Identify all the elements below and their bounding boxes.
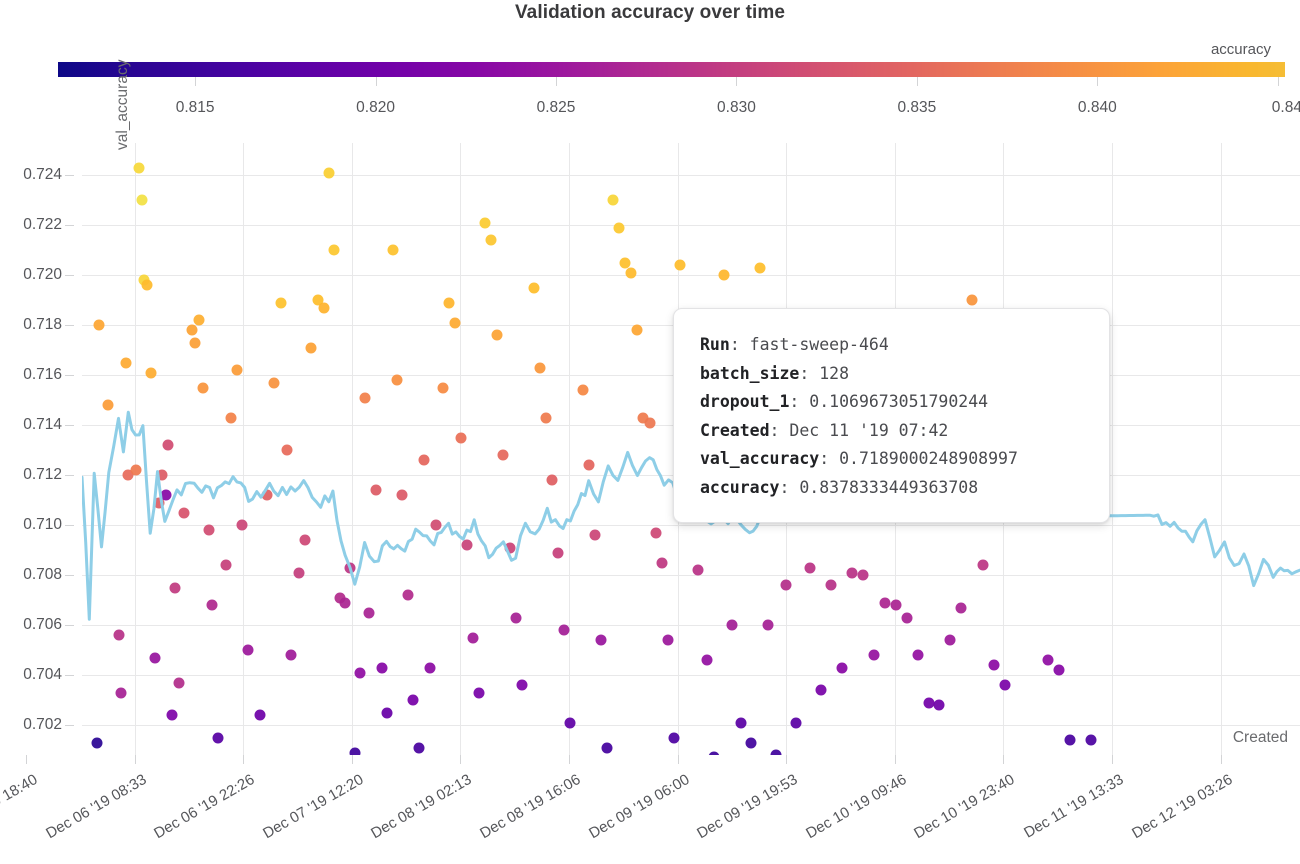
y-tick-label: 0.704 [23,666,62,684]
colorbar-tick-mark [1278,77,1279,86]
y-tick-mark [65,175,74,176]
colorbar: accuracy 0.8150.8200.8250.8300.8350.8400… [58,62,1285,77]
page-title: Validation accuracy over time [0,0,1300,26]
colorbar-tick-mark [917,77,918,86]
x-tick-mark [678,755,679,764]
y-tick-label: 0.718 [23,316,62,334]
tooltip-row: batch_size: 128 [700,360,1083,389]
y-tick-mark [65,575,74,576]
y-tick-label: 0.708 [23,566,62,584]
colorbar-tick-label: 0.825 [537,99,576,117]
tooltip-key: Run [700,335,730,354]
y-axis: 0.7020.7040.7060.7080.7100.7120.7140.716… [0,143,82,755]
tooltip-key: dropout_1 [700,392,789,411]
y-tick-mark [65,425,74,426]
tooltip-row: dropout_1: 0.1069673051790244 [700,388,1083,417]
tooltip-key: Created [700,421,770,440]
colorbar-ticks: 0.8150.8200.8250.8300.8350.8400.84 [58,77,1285,125]
tooltip-value: : 0.1069673051790244 [789,392,988,411]
colorbar-tick-mark [1097,77,1098,86]
y-tick-mark [65,475,74,476]
y-tick-mark [65,725,74,726]
y-tick-mark [65,375,74,376]
x-tick-mark [26,755,27,764]
tooltip-key: batch_size [700,364,799,383]
x-tick-mark [135,755,136,764]
y-tick-label: 0.710 [23,516,62,534]
colorbar-tick-mark [195,77,196,86]
colorbar-label: accuracy [1211,41,1271,58]
x-axis: Dec 05 '19 18:40Dec 06 '19 08:33Dec 06 '… [0,755,1300,864]
y-tick-label: 0.702 [23,716,62,734]
y-tick-mark [65,225,74,226]
y-tick-label: 0.714 [23,416,62,434]
y-tick-label: 0.706 [23,616,62,634]
colorbar-tick-label: 0.820 [356,99,395,117]
x-tick-mark [352,755,353,764]
x-tick-mark [1221,755,1222,764]
tooltip-key: val_accuracy [700,449,819,468]
x-tick-mark [895,755,896,764]
x-tick-mark [1112,755,1113,764]
colorbar-tick-mark [556,77,557,86]
y-tick-mark [65,275,74,276]
y-tick-label: 0.724 [23,166,62,184]
y-tick-label: 0.720 [23,266,62,284]
x-tick-mark [460,755,461,764]
colorbar-tick-label: 0.84 [1272,99,1300,117]
y-tick-mark [65,325,74,326]
run-tooltip: Run: fast-sweep-464batch_size: 128dropou… [673,308,1110,523]
colorbar-tick-label: 0.830 [717,99,756,117]
y-tick-label: 0.712 [23,466,62,484]
colorbar-tick-mark [736,77,737,86]
colorbar-tick-label: 0.840 [1078,99,1117,117]
y-tick-mark [65,525,74,526]
x-tick-mark [243,755,244,764]
tooltip-row: val_accuracy: 0.7189000248908997 [700,445,1083,474]
y-axis-label: val_accuracy [114,60,132,150]
tooltip-value: : 0.8378333449363708 [779,478,978,497]
colorbar-gradient [58,62,1285,77]
tooltip-row: accuracy: 0.8378333449363708 [700,474,1083,503]
y-tick-label: 0.716 [23,366,62,384]
tooltip-value: : 128 [799,364,849,383]
colorbar-tick-label: 0.815 [176,99,215,117]
x-axis-label: Created [1233,729,1288,747]
tooltip-row: Created: Dec 11 '19 07:42 [700,417,1083,446]
tooltip-row: Run: fast-sweep-464 [700,331,1083,360]
x-tick-mark [569,755,570,764]
tooltip-key: accuracy [700,478,779,497]
tooltip-value: : fast-sweep-464 [730,335,889,354]
colorbar-tick-mark [376,77,377,86]
y-tick-mark [65,625,74,626]
x-tick-mark [1003,755,1004,764]
tooltip-value: : Dec 11 '19 07:42 [770,421,949,440]
y-tick-mark [65,675,74,676]
chart-root: Validation accuracy over time accuracy 0… [0,0,1300,864]
colorbar-tick-label: 0.835 [897,99,936,117]
y-tick-label: 0.722 [23,216,62,234]
x-tick-mark [786,755,787,764]
tooltip-value: : 0.7189000248908997 [819,449,1018,468]
